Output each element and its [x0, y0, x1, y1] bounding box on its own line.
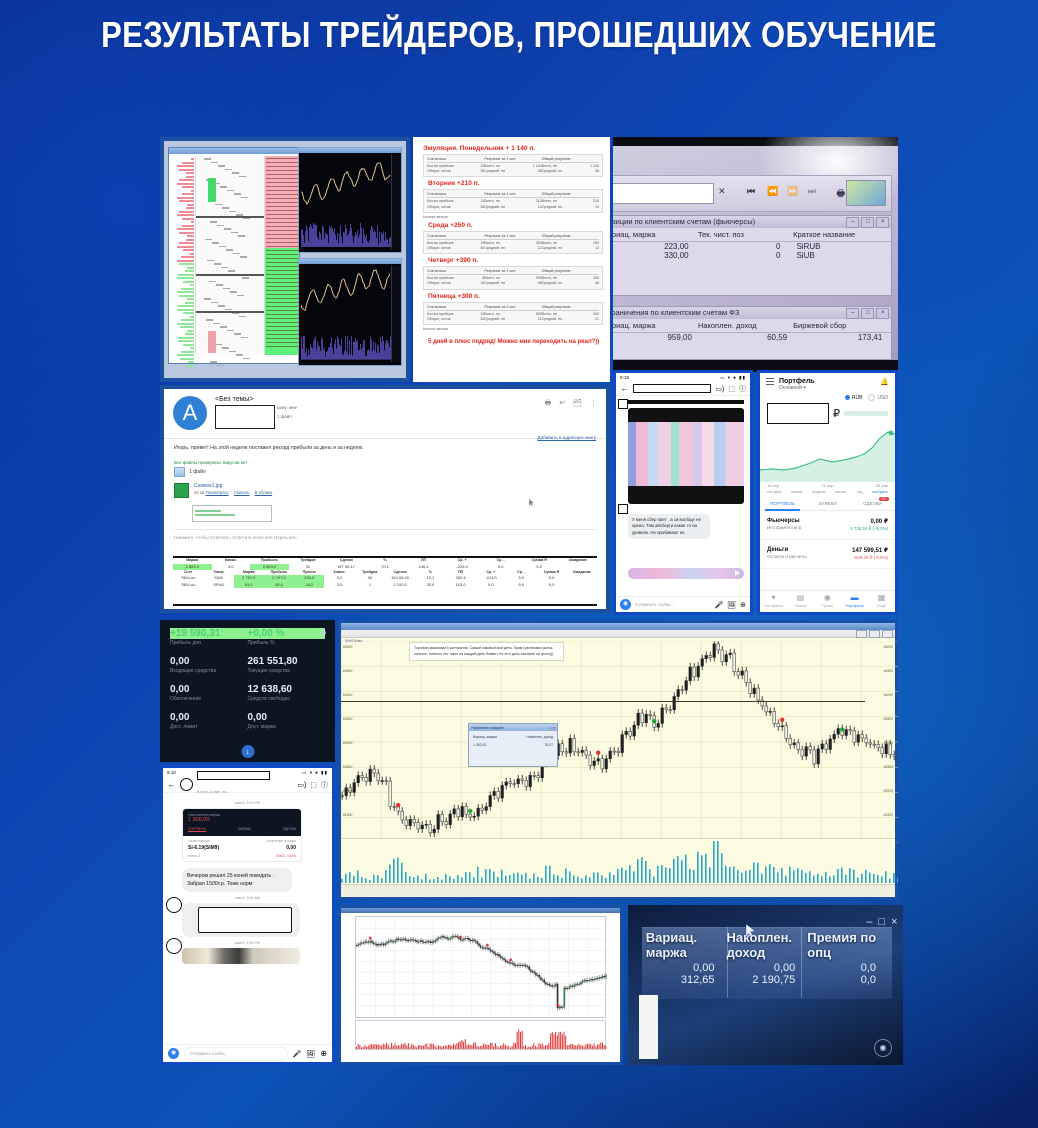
- ladder-row: [266, 166, 298, 167]
- message-input[interactable]: Отправить сообщ...: [184, 1047, 288, 1061]
- shared-photo[interactable]: [182, 948, 300, 964]
- chart-volume: [301, 220, 391, 247]
- table-row: Оборот, лотов38: [427, 169, 484, 174]
- info-icon[interactable]: ⓘ: [321, 780, 328, 790]
- cell-fee: 173,41: [793, 333, 888, 342]
- column-header: Краткое название: [793, 230, 888, 239]
- y-tick: 63000: [343, 741, 352, 745]
- ladder-row: [266, 246, 298, 247]
- stat-label: Обеспечение: [170, 696, 248, 702]
- report-day-heading: Среда +250 п.: [428, 222, 603, 229]
- cluster-bar: [182, 186, 194, 188]
- email-body: Игорь, привет! На этой неделе поставил р…: [164, 445, 606, 451]
- minimize-icon[interactable]: [856, 630, 867, 638]
- ladder-row: [266, 334, 298, 335]
- result-title: Результат за 1 кон:: [484, 157, 541, 163]
- stat-value: 0,00: [170, 712, 248, 723]
- total-title: Общий результат:: [542, 192, 599, 198]
- cell: SPU8: [203, 582, 233, 588]
- stat-value: 12 638,60: [248, 684, 326, 695]
- report-day-table: СтатистикаКол-во прибыль19Оборот, лотов4…: [423, 231, 603, 254]
- ladder-row: [266, 254, 298, 255]
- price-tick: [220, 326, 227, 328]
- nav-ещё[interactable]: ▦Ещё: [868, 594, 895, 608]
- maximize-icon[interactable]: [869, 630, 880, 638]
- y-tick: 64000: [884, 693, 893, 697]
- stat-value: 0,00: [170, 684, 248, 695]
- last-icon[interactable]: ⏭: [808, 186, 816, 197]
- stats-title: Статистика: [427, 234, 484, 240]
- redacted-message: [182, 903, 300, 937]
- bell-icon[interactable]: 🔔: [880, 378, 889, 386]
- gallery-icon[interactable]: 🖼: [727, 601, 736, 609]
- cluster-bar: [185, 333, 194, 335]
- microphone-icon[interactable]: 🎤: [715, 601, 724, 609]
- price-tick: [226, 249, 233, 251]
- cell: [567, 582, 597, 588]
- tab-deals: СДЕЛКИ: [283, 827, 296, 832]
- camera-icon[interactable]: ◉: [168, 1048, 179, 1059]
- new-chat-icon[interactable]: ⬚: [728, 385, 735, 393]
- camera-icon[interactable]: ◉: [620, 599, 631, 610]
- cluster-bar: [185, 302, 194, 304]
- cluster-bar: [187, 330, 194, 332]
- ladder-row: [266, 226, 298, 227]
- nav-портфель[interactable]: ▬Портфель: [841, 594, 868, 608]
- window-titlebar: [341, 623, 895, 630]
- next-icon[interactable]: ⏩: [787, 186, 798, 197]
- stat-cell: 0,00Обеспечение: [170, 684, 248, 702]
- stat-cell: 0,00Дост. маржа: [248, 712, 326, 730]
- total-title: Общий результат:: [542, 269, 599, 275]
- column-header: Накоплен. доход: [727, 930, 808, 960]
- price-tick: [237, 295, 244, 297]
- weekly-report-body: Эмуляция. Понедельник + 1 140 п.Статисти…: [413, 137, 610, 382]
- total-title: Общий результат:: [542, 234, 599, 240]
- lots: лотов: 0: [188, 854, 200, 858]
- report-note: Блокнот вечера: [423, 215, 603, 219]
- chart-volume-pane: [341, 838, 895, 883]
- video-call-icon[interactable]: ▭): [715, 385, 724, 393]
- y-tick: 65000: [343, 645, 352, 649]
- table-row: Оборот, лотов28: [427, 205, 484, 210]
- level-line: [196, 311, 264, 313]
- attachment-download-link[interactable]: Скачать: [234, 490, 250, 495]
- order-book-price-column: [195, 156, 265, 355]
- email-subject: <Без темы>: [215, 396, 545, 403]
- chart-range-selector[interactable]: сегоднявчеранеделямесяцгодвыбрать: [760, 489, 895, 496]
- cell: 1: [355, 582, 385, 588]
- cluster-bar: [181, 288, 194, 290]
- tab-badge: 20+: [879, 497, 889, 501]
- cell-position: 0: [695, 242, 787, 251]
- ladder-row: [266, 222, 298, 223]
- message-input-bar: ◉ Отправить сообщ... 🎤 🖼 ⊕: [616, 596, 750, 612]
- price-tick: [227, 330, 234, 332]
- chart-annotation: Торговал максимум 5 контрактов. Самый пи…: [409, 642, 564, 661]
- dialog-value: 1 352,00: [473, 743, 486, 747]
- total-title: Общий результат:: [542, 305, 599, 311]
- ladder-row: [266, 290, 298, 291]
- cluster-bar: [190, 316, 194, 318]
- camera-icon[interactable]: ◉: [874, 1039, 892, 1057]
- info-icon[interactable]: ⓘ: [739, 384, 746, 394]
- stat-label: Входящие средства: [170, 668, 248, 674]
- ladder-row: [266, 286, 298, 287]
- cluster-bar: [178, 305, 194, 307]
- report-day-table: СтатистикаКол-во прибыль13Оборот, лотов3…: [423, 302, 603, 325]
- status-time: 9:18: [620, 375, 629, 380]
- y-tick: 64000: [343, 693, 352, 697]
- nav-что купить[interactable]: ✦Что купить: [760, 594, 787, 608]
- price-tick: [204, 158, 211, 160]
- attachment-name[interactable]: Снимок1.jpg: [194, 483, 222, 489]
- avatar[interactable]: [180, 778, 193, 791]
- message-bubble: У меня сбер прет , а си вообще не хрена.…: [628, 514, 710, 539]
- stat-cell: 261 551,80Текущие средства: [248, 656, 326, 674]
- nav-пульс[interactable]: ◉Пульс: [814, 594, 841, 608]
- close-icon[interactable]: ×: [876, 217, 889, 228]
- range-option-неделя[interactable]: неделя: [812, 489, 825, 494]
- price-tick: [205, 239, 212, 241]
- attachment-view-link[interactable]: Посмотреть: [206, 490, 229, 495]
- message-input[interactable]: Отправить сообщ...: [635, 602, 711, 607]
- news-icon: ▤: [787, 594, 814, 603]
- email-meta-files: 1 файл: [277, 412, 545, 421]
- price-tick: [230, 291, 237, 293]
- chart-toolbar: [341, 630, 895, 638]
- ladder-row: [266, 198, 298, 199]
- menu-icon[interactable]: [766, 378, 774, 385]
- tab-сделки[interactable]: СДЕЛКИ20+: [850, 496, 895, 510]
- row-subtitle: Остаток и расчеты: [767, 554, 807, 559]
- price-tick: [211, 302, 218, 304]
- app-thumbnail-icon: [846, 180, 886, 207]
- stats-title: Статистика: [427, 192, 484, 198]
- shared-screenshot[interactable]: Накопленная маржа 1 300,00 ПОРТФЕЛЬ ЗАЯВ…: [182, 808, 302, 862]
- report-day-table: СтатистикаКол-во прибыль8Оборот, лотов18…: [423, 266, 603, 289]
- horizontal-level-line: [341, 701, 865, 702]
- message-input-placeholder: Отправить сообщ...: [190, 1051, 228, 1056]
- status-icons: ▭ ▾ ⏺ ▮▮: [720, 375, 746, 381]
- cell-premium: 0,0: [807, 974, 888, 986]
- cell: 3,0: [324, 582, 354, 588]
- panel-margin-photo: – □ × Вариац. маржа Накоплен. доход Прем…: [628, 905, 903, 1065]
- position-dialog[interactable]: Управление позицией ▭ ✕ Вариац. маржаНак…: [468, 723, 558, 767]
- dialog-value: 78,07: [545, 743, 554, 747]
- panel-big-chart: SiM9 Base Торговал максимум 5 контрактов…: [338, 620, 898, 900]
- chart-plot-area: [355, 916, 606, 1018]
- download-icon[interactable]: ↓: [241, 745, 254, 758]
- add-to-addressbook-link[interactable]: Добавить в адресную книгу: [537, 435, 596, 440]
- table-row: Средний, пп12: [542, 246, 599, 251]
- print-icon[interactable]: 🖶: [545, 399, 552, 410]
- ladder-row: [266, 298, 298, 299]
- currency-toggle-usd[interactable]: USD: [868, 394, 888, 401]
- range-option-сегодня[interactable]: сегодня: [767, 489, 781, 494]
- price-tick: [243, 358, 250, 360]
- chart-plot-area: [341, 641, 895, 837]
- redacted-contact-name: [633, 384, 711, 393]
- cluster-bar: [182, 193, 194, 195]
- cluster-bar: [179, 263, 194, 265]
- stats-grid: +19 590,31Прибыль дня+0,00 %Прибыль %0,0…: [170, 628, 325, 730]
- prev-icon[interactable]: ⏪: [767, 186, 778, 197]
- back-arrow-icon[interactable]: ←: [167, 780, 176, 789]
- maximize-icon[interactable]: □: [861, 217, 874, 228]
- cell-income: 0,00: [727, 962, 808, 974]
- close-icon[interactable]: ×: [891, 916, 897, 928]
- gallery-icon[interactable]: 🖼: [306, 1050, 315, 1058]
- row-delta: -958,20 ₽ (-0,0%): [852, 555, 888, 561]
- result-title: Результат за 1 кон:: [484, 269, 541, 275]
- column-header: Вариац. маржа: [613, 230, 698, 239]
- level-line: [196, 216, 264, 218]
- back-arrow-icon[interactable]: ←: [620, 384, 629, 393]
- select-circle[interactable]: [166, 938, 182, 954]
- reply-hint[interactable]: Нажмите, чтобы Ответить, Ответить всем и…: [174, 529, 596, 540]
- table-row: Оборот, лотов18: [427, 281, 484, 286]
- cluster-bar: [187, 267, 194, 269]
- portfolio-row[interactable]: ФьючерсыИнструментов 50,00 ₽3 726,94 ₽ (…: [760, 511, 895, 540]
- maximize-icon[interactable]: □: [861, 308, 874, 319]
- cell-margin: 0,00: [646, 962, 727, 974]
- stat-label: Дост. маржа: [248, 724, 326, 730]
- stats-title: Статистика: [427, 269, 484, 275]
- cell-ticker: SiRUB: [786, 242, 888, 251]
- ticker-value: 0,00: [286, 845, 296, 851]
- cluster-bar: [177, 214, 194, 216]
- play-icon[interactable]: [735, 570, 740, 576]
- candle-chart-bottom: [298, 258, 402, 366]
- row-subtitle: Инструментов 5: [767, 525, 801, 530]
- price-tick: [227, 190, 234, 192]
- cluster-bar: [179, 211, 194, 213]
- toolbar-combo[interactable]: [613, 183, 714, 203]
- price-tick: [239, 316, 246, 318]
- minimize-icon[interactable]: –: [846, 308, 859, 319]
- cell: 93,0: [264, 582, 294, 588]
- tab-портфель[interactable]: ПОРТФЕЛЬ: [760, 496, 805, 510]
- price-tick: [209, 281, 216, 283]
- avatar: A: [173, 396, 207, 430]
- table-row: Средний, пп38: [542, 169, 599, 174]
- column-header: Премия по опц: [807, 930, 888, 960]
- cell: 7864-uu: [173, 582, 203, 588]
- ladder-row: [266, 194, 298, 195]
- ladder-row: [266, 174, 298, 175]
- stat-cell: +0,00 %Прибыль %: [248, 628, 326, 646]
- panel-instagram-dm: 9:10 ▭ ▾ ⏺ ▮▮ ← В сети 11 мин. на... ▭) …: [160, 765, 335, 1065]
- tab-заявки[interactable]: ЗАЯВКИ: [805, 496, 850, 510]
- ladder-row: [266, 282, 298, 283]
- reply-icon[interactable]: ↩: [559, 399, 565, 407]
- maximize-icon[interactable]: □: [878, 916, 885, 928]
- cluster-bar: [177, 291, 194, 293]
- dialog-field: Вариац. маржа: [473, 735, 497, 739]
- timestamp: мая 9, 9:44 AM: [168, 896, 327, 900]
- ladder-row: [266, 250, 298, 251]
- cluster-bar: [182, 218, 194, 220]
- gear-icon[interactable]: ⚙: [319, 628, 327, 639]
- bottom-nav[interactable]: ✦Что купить▤Лента◉Пульс▬Портфель▦Ещё: [760, 590, 895, 612]
- table-row: Средний, пп48: [542, 281, 599, 286]
- cluster-bar: [177, 183, 194, 185]
- price-tick: [210, 361, 217, 363]
- cell: 5,0: [506, 582, 536, 588]
- cluster-bar: [186, 176, 194, 178]
- chevron-down-icon[interactable]: ▾: [803, 385, 806, 391]
- column-header: Вариац. маржа: [613, 321, 698, 330]
- portfolio-tabs[interactable]: ПОРТФЕЛЬЗАЯВКИСДЕЛКИ20+: [760, 496, 895, 511]
- range-option-год[interactable]: год: [857, 489, 863, 494]
- ladder-row: [266, 262, 298, 263]
- close-icon[interactable]: ×: [876, 308, 889, 319]
- chat-header: ← ▭) ⬚ ⓘ: [616, 382, 750, 396]
- select-checkbox[interactable]: [618, 399, 628, 409]
- portfolio-sparkline: [760, 426, 895, 482]
- price-tick: [229, 351, 236, 353]
- cluster-screenshot: [628, 422, 744, 486]
- cluster-bar: [177, 165, 194, 167]
- close-icon[interactable]: [882, 630, 893, 638]
- price-tick: [219, 246, 226, 248]
- nav-label: Что купить: [764, 603, 784, 608]
- table-row: Средний, пп21: [542, 317, 599, 322]
- ladder-row: [266, 270, 298, 271]
- ladder-row: [266, 230, 298, 231]
- ladder-row: [266, 186, 298, 187]
- cluster-bar: [177, 246, 194, 248]
- ladder-row: [266, 306, 298, 307]
- stat-cell: +19 590,31Прибыль дня: [170, 628, 248, 646]
- new-chat-icon[interactable]: ⬚: [310, 781, 317, 789]
- table-row: 7864-uuSPU893,093,018,23,012 100,033,010…: [173, 582, 597, 588]
- nav-лента[interactable]: ▤Лента: [787, 594, 814, 608]
- status-bar: 9:18 ▭ ▾ ⏺ ▮▮: [616, 373, 750, 382]
- results-table: МаржаКомис.ПрибыльТрейдовСделок%ППСр. +С…: [173, 556, 597, 606]
- archive-icon[interactable]: 🗂: [573, 399, 582, 407]
- plus-icon[interactable]: ⊕: [740, 601, 746, 609]
- dialog-title: Управление позицией: [471, 726, 503, 730]
- chart-y-axis-left: 6500064500640006350063000625006200061500: [341, 641, 367, 883]
- microphone-icon[interactable]: 🎤: [293, 1050, 302, 1058]
- col-name: Наименование: [188, 839, 210, 843]
- stats-title: Статистика: [427, 157, 484, 163]
- print-icon[interactable]: 🖶: [836, 186, 845, 202]
- panel-portfolio-app: Портфель Основной ▾ 🔔 RUB USD ₽: [757, 370, 898, 615]
- stat-value: +0,00 %: [248, 628, 326, 639]
- range-option-месяц[interactable]: месяц: [835, 489, 846, 494]
- minimize-icon[interactable]: –: [846, 217, 859, 228]
- price-tick: [210, 221, 217, 223]
- row-title: Деньги: [767, 547, 807, 553]
- more-icon[interactable]: ⋮: [590, 399, 597, 407]
- cell: 5,0: [536, 582, 566, 588]
- cluster-bar: [185, 270, 194, 272]
- cluster-bar: [183, 281, 194, 283]
- video-call-icon[interactable]: ▭): [297, 781, 306, 789]
- positions-table-head: Вариац. маржа Тек. чист. поз Краткое наз…: [613, 228, 891, 242]
- price-tick: [216, 284, 223, 286]
- price-tick: [222, 207, 229, 209]
- price-tick: [215, 344, 222, 346]
- ladder-row: [266, 242, 298, 243]
- y-tick: 62500: [343, 765, 352, 769]
- cluster-bar: [178, 340, 194, 342]
- price-tick: [234, 193, 241, 195]
- limits-window: Ограничения по клиентским счетам ФЗ – □ …: [613, 306, 892, 360]
- table-row: 0,00 0,00 0,0: [642, 962, 892, 974]
- nav-label: Пульс: [822, 603, 833, 608]
- timestamp: мая 9, 2:30 PM: [168, 941, 327, 945]
- close-icon[interactable]: ✕: [718, 186, 726, 197]
- range-option-вчера[interactable]: вчера: [791, 489, 802, 494]
- stat-value: 0,00: [248, 712, 326, 723]
- attachment-cloud-link[interactable]: В облако: [255, 490, 272, 495]
- shared-media-strip[interactable]: [628, 568, 744, 579]
- y-tick: 62000: [884, 789, 893, 793]
- table-row: Средний, пп38: [484, 169, 541, 174]
- currency-toggle-rub[interactable]: RUB: [845, 394, 863, 401]
- y-tick: 63000: [884, 741, 893, 745]
- stats-title: Статистика: [427, 305, 484, 311]
- panel-dark-stats: +19 590,31Прибыль дня+0,00 %Прибыль %0,0…: [160, 620, 335, 762]
- pulse-icon: ◉: [814, 594, 841, 603]
- table-row: Оборот, лотов40: [427, 246, 484, 251]
- portfolio-account[interactable]: Основной: [779, 385, 802, 391]
- cluster-bar: [190, 347, 194, 349]
- chart-titlebar: [299, 148, 401, 153]
- cluster-bar: [183, 344, 194, 346]
- dialog-close-icon[interactable]: ▭ ✕: [548, 726, 555, 730]
- shared-photo[interactable]: [628, 408, 744, 504]
- ladder-row: [266, 206, 298, 207]
- ladder-row: [266, 214, 298, 215]
- cluster-bar: [181, 351, 194, 353]
- plus-icon[interactable]: ⊕: [320, 1049, 327, 1058]
- select-checkbox[interactable]: [618, 504, 628, 514]
- price-tick: [214, 263, 221, 265]
- tab-portfolio: ПОРТФЕЛЬ: [188, 827, 206, 832]
- cluster-bar: [191, 190, 194, 192]
- price-tick: [222, 347, 229, 349]
- report-day-table: СтатистикаКол-во прибыль10Оборот, лотов3…: [423, 154, 603, 177]
- attachment-item[interactable]: Снимок1.jpg 55 кБ Посмотреть Скачать В о…: [164, 479, 606, 502]
- window-titlebar: [341, 908, 620, 913]
- minimize-icon[interactable]: –: [866, 916, 872, 928]
- select-circle[interactable]: [166, 897, 182, 913]
- attachment-count: 1 файл: [164, 465, 606, 479]
- timestamp: мая 6, 6:15 PM: [168, 801, 327, 805]
- email-meta-recipient: кому: мне: [277, 403, 545, 412]
- price-tick: [234, 333, 241, 335]
- tab-orders: ЗАЯВКИ: [238, 827, 251, 832]
- chart-axis: [391, 154, 401, 249]
- image-file-icon: [174, 483, 189, 498]
- report-day-heading: Пятница +300 п.: [428, 293, 603, 300]
- briefcase-icon: ▬: [841, 594, 868, 603]
- cluster-bar: [179, 169, 194, 171]
- first-icon[interactable]: ⏮: [747, 186, 755, 197]
- portfolio-row[interactable]: ДеньгиОстаток и расчеты147 599,51 ₽-958,…: [760, 540, 895, 569]
- currency-symbol: ₽: [833, 407, 840, 420]
- attachment-thumbnail[interactable]: [192, 505, 272, 522]
- price-tick: [228, 270, 235, 272]
- cell: 103,0: [446, 582, 476, 588]
- ladder-row: [266, 318, 298, 319]
- range-option-выбрать[interactable]: выбрать: [872, 489, 888, 494]
